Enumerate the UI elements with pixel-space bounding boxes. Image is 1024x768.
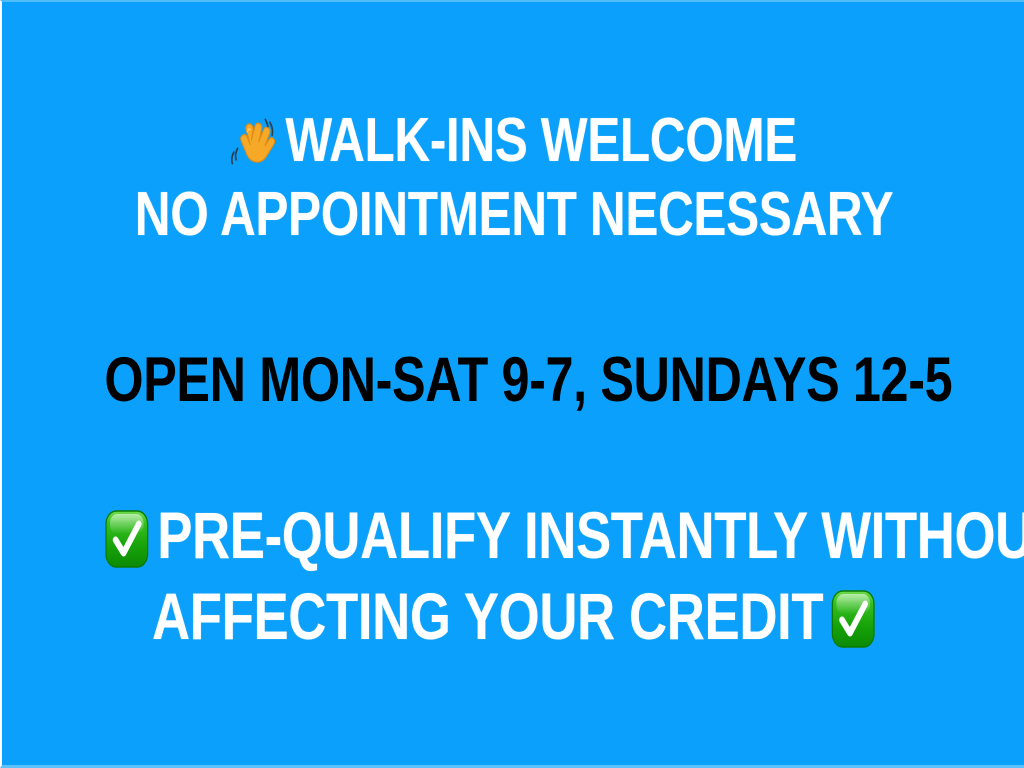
affecting-credit-line: AFFECTING YOUR CREDIT [104, 583, 923, 650]
affecting-credit-text: AFFECTING YOUR CREDIT [152, 579, 823, 653]
check-mark-button-icon [104, 509, 149, 569]
store-hours-text: OPEN MON-SAT 9-7, SUNDAYS 12-5 [104, 345, 952, 415]
pre-qualify-text: PRE-QUALIFY INSTANTLY WITHOUT [157, 498, 1024, 572]
waving-hand-icon [231, 111, 279, 171]
no-appointment-text: NO APPOINTMENT NECESSARY [135, 180, 893, 249]
promo-sign-canvas: WALK-INS WELCOME NO APPOINTMENT NECESSAR… [0, 0, 1024, 768]
store-hours-block: OPEN MON-SAT 9-7, SUNDAYS 12-5 [2, 349, 1024, 412]
check-mark-button-icon [831, 589, 876, 649]
walk-ins-message-block: WALK-INS WELCOME NO APPOINTMENT NECESSAR… [2, 110, 1024, 246]
no-appointment-line: NO APPOINTMENT NECESSARY [104, 184, 923, 246]
store-hours-line: OPEN MON-SAT 9-7, SUNDAYS 12-5 [104, 349, 923, 412]
pre-qualify-line: PRE-QUALIFY INSTANTLY WITHOUT [104, 502, 923, 569]
walk-ins-welcome-line: WALK-INS WELCOME [104, 110, 923, 172]
walk-ins-welcome-text: WALK-INS WELCOME [285, 106, 797, 175]
pre-qualify-message-block: PRE-QUALIFY INSTANTLY WITHOUT AFFECTING … [2, 502, 1024, 649]
